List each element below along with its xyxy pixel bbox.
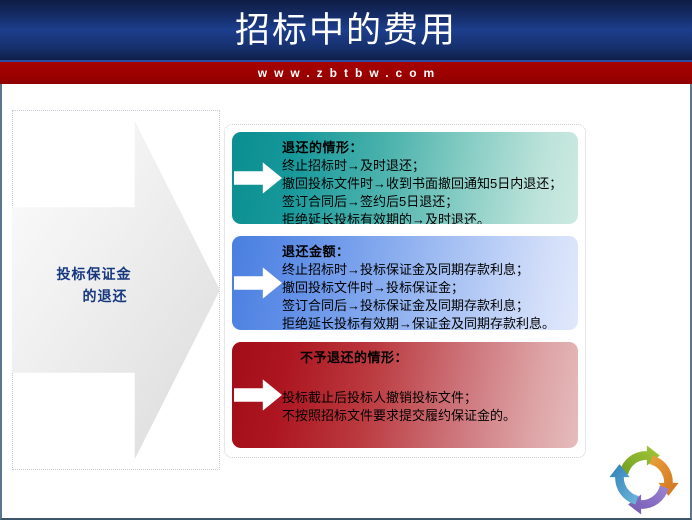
card-line: 撤回投标文件时→投标保证金； [282, 279, 570, 297]
card-line: 拒绝延长投标有效期→保证金及同期存款利息。 [282, 315, 570, 330]
process-arrow-label: 投标保证金 的退还 [14, 265, 174, 309]
slide: 招标中的费用 www.zbtbw.com 投标保证金 的退还 退还的情形： 终止… [0, 0, 692, 520]
arrow-right-icon [234, 378, 282, 412]
card-refund-amount[interactable]: 退还金额： 终止招标时→投标保证金及同期存款利息； 撤回投标文件时→投标保证金；… [232, 236, 578, 330]
card-heading: 退还的情形： [282, 138, 570, 157]
card-no-refund-situations[interactable]: 不予退还的情形： 投标截止后投标人撤销投标文件； 不按照招标文件要求提交履约保证… [232, 342, 578, 448]
card-content: 不予退还的情形： 投标截止后投标人撤销投标文件； 不按照招标文件要求提交履约保证… [282, 342, 570, 448]
card-line: 投标截止后投标人撤销投标文件； [282, 389, 570, 407]
card-content: 退还的情形： 终止招标时→及时退还； 撤回投标文件时→收到书面撤回通知5日内退还… [282, 132, 570, 224]
card-line: 签订合同后→投标保证金及同期存款利息； [282, 297, 570, 315]
url-band: www.zbtbw.com [0, 62, 692, 84]
recycle-arrows-logo [608, 444, 680, 516]
website-url: www.zbtbw.com [0, 62, 692, 84]
card-content: 退还金额： 终止招标时→投标保证金及同期存款利息； 撤回投标文件时→投标保证金；… [282, 236, 570, 330]
card-line: 终止招标时→及时退还； [282, 157, 570, 175]
process-arrow-label-line1: 投标保证金 [14, 265, 174, 287]
spacer [282, 367, 570, 389]
card-line: 不按照招标文件要求提交履约保证金的。 [282, 407, 570, 425]
card-line: 签订合同后→签约后5日退还； [282, 193, 570, 211]
card-heading: 不予退还的情形： [282, 348, 570, 367]
arrow-right-icon [234, 266, 282, 300]
process-arrow-label-line2: 的退还 [14, 287, 174, 309]
card-line: 撤回投标文件时→收到书面撤回通知5日内退还； [282, 175, 570, 193]
arrow-right-icon [234, 161, 282, 195]
card-heading: 退还金额： [282, 242, 570, 261]
page-title: 招标中的费用 [0, 8, 692, 54]
card-refund-situations[interactable]: 退还的情形： 终止招标时→及时退还； 撤回投标文件时→收到书面撤回通知5日内退还… [232, 132, 578, 224]
card-line: 拒绝延长投标有效期的→及时退还。 [282, 211, 570, 224]
blue-arrow-icon [609, 464, 638, 504]
card-line: 终止招标时→投标保证金及同期存款利息； [282, 261, 570, 279]
